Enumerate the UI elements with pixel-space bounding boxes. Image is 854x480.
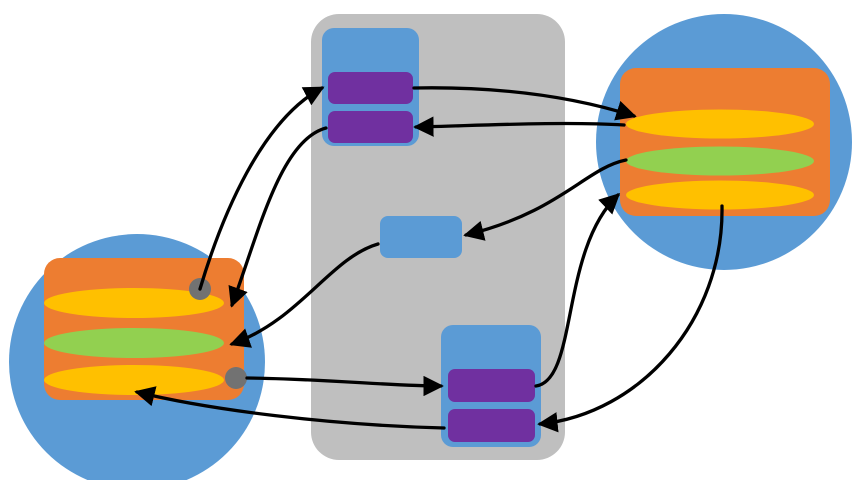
arrow-goal-request-to-server <box>414 88 634 116</box>
arrow-goal-client-to-request <box>200 88 322 289</box>
arrow-feedback-topic-to-subscriber <box>232 244 378 344</box>
arrows-layer <box>0 0 854 480</box>
arrow-result-request-to-server <box>536 195 618 386</box>
arrow-goal-response-to-client <box>232 128 326 305</box>
diagram-canvas: Action Goal Service Request Response Fee… <box>0 0 854 480</box>
arrow-result-client-to-request <box>247 378 441 386</box>
arrow-goal-server-to-response <box>416 123 624 127</box>
arrow-result-server-to-response <box>540 206 722 424</box>
arrow-result-response-to-client <box>137 392 444 428</box>
arrow-feedback-publisher-to-topic <box>466 160 626 235</box>
